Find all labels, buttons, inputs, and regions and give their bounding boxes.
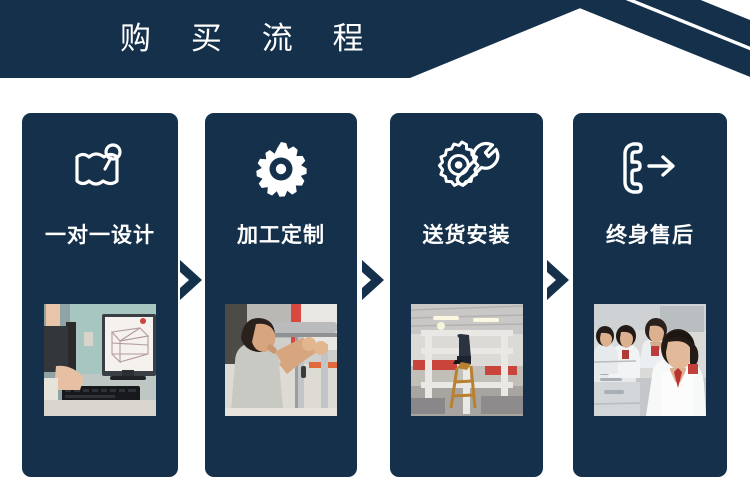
phone-handset-arrow-icon <box>573 135 727 201</box>
step-photo-1 <box>44 304 156 416</box>
step-photo-3 <box>411 304 523 416</box>
gear-wrench-icon <box>390 135 543 201</box>
step-label-4: 终身售后 <box>573 221 727 249</box>
chevron-right-icon-1 <box>178 258 204 302</box>
step-card-1[interactable]: 一对一设计 <box>22 113 178 477</box>
step-card-3[interactable]: 送货安装 <box>390 113 543 477</box>
step-photo-2 <box>225 304 337 416</box>
header-banner: 购 买 流 程 <box>0 0 750 78</box>
step-label-3: 送货安装 <box>390 221 543 249</box>
step-label-1: 一对一设计 <box>22 221 178 249</box>
blueprint-pin-icon <box>22 135 178 201</box>
purchase-process-infographic: 购 买 流 程 一对一设计 <box>0 0 750 502</box>
chevron-right-icon-2 <box>360 258 386 302</box>
page-title: 购 买 流 程 <box>120 16 379 62</box>
gear-icon <box>205 135 357 201</box>
chevron-right-icon-3 <box>545 258 571 302</box>
step-card-4[interactable]: 终身售后 <box>573 113 727 477</box>
step-photo-4 <box>594 304 706 416</box>
step-label-2: 加工定制 <box>205 221 357 249</box>
step-card-2[interactable]: 加工定制 <box>205 113 357 477</box>
